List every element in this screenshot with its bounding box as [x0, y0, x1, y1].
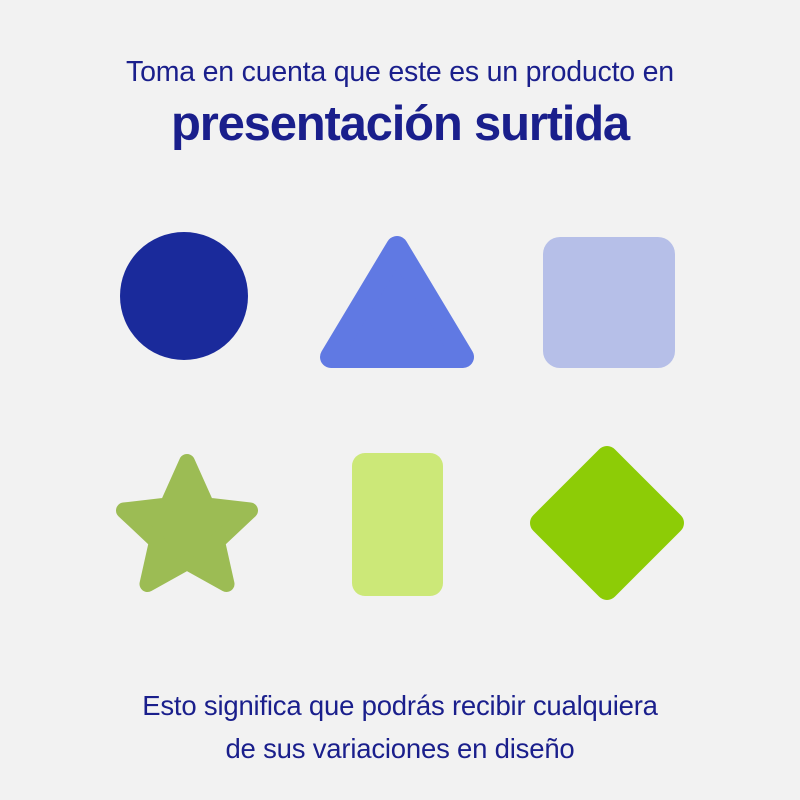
footer: Esto significa que podrás recibir cualqu…: [0, 692, 800, 762]
triangle-path: [331, 247, 463, 357]
diamond-icon: [528, 444, 686, 602]
rounded-square-shape: [543, 237, 675, 368]
footer-line-1: Esto significa que podrás recibir cualqu…: [0, 692, 800, 720]
star-shape: [112, 448, 262, 596]
circle-shape: [120, 232, 248, 360]
diamond-path: [541, 457, 673, 589]
triangle-icon: [318, 232, 476, 370]
product-variation-notice-poster: Toma en cuenta que este es un producto e…: [0, 0, 800, 800]
rounded-rectangle-shape: [352, 453, 443, 596]
star-icon: [112, 448, 262, 596]
footer-line-2: de sus variaciones en diseño: [0, 720, 800, 763]
headline: Toma en cuenta que este es un producto e…: [0, 58, 800, 149]
diamond-shape: [528, 444, 686, 602]
star-path: [124, 462, 250, 584]
headline-line-2: presentación surtida: [0, 100, 800, 149]
headline-line-1: Toma en cuenta que este es un producto e…: [0, 58, 800, 100]
triangle-shape: [318, 232, 476, 370]
